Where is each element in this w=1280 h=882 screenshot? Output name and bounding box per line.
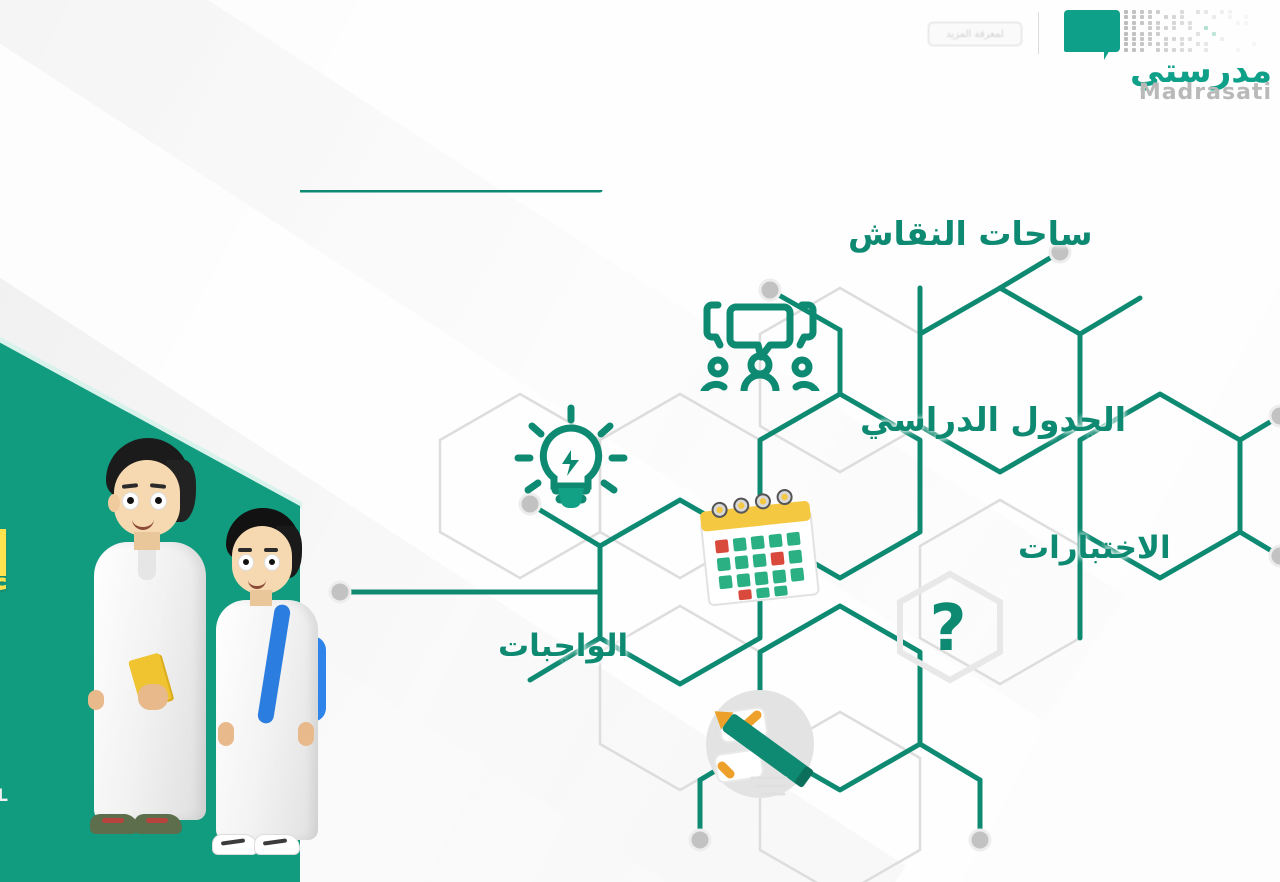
hexagon-lines <box>300 190 1280 882</box>
network-nodes <box>330 242 1280 850</box>
dot-matrix-icon <box>1124 10 1270 54</box>
logo-latin-text: Madrasati <box>1060 82 1272 104</box>
hexagon-network-diagram: ساحات النقاش الجدول الدراسي الاختبارات ا… <box>300 190 1280 882</box>
panel-footer-text: HOOL <box>0 786 12 806</box>
logo-text: مدرستي Madrasati <box>1060 54 1272 104</box>
header-divider <box>1038 12 1039 54</box>
slide-canvas: ا إلى HOOL لمعر <box>0 0 1280 882</box>
madrasati-logo[interactable]: مدرستي Madrasati <box>1060 4 1272 108</box>
more-info-button[interactable]: لمعرفة المزيد <box>928 22 1022 46</box>
panel-headline-line2: إلى <box>0 518 11 591</box>
active-hexagons <box>300 190 1280 840</box>
student-older <box>90 438 216 836</box>
speech-bubble-icon <box>1064 10 1120 52</box>
header: لمعرفة المزيد مدرستي Madrasati <box>920 0 1280 120</box>
